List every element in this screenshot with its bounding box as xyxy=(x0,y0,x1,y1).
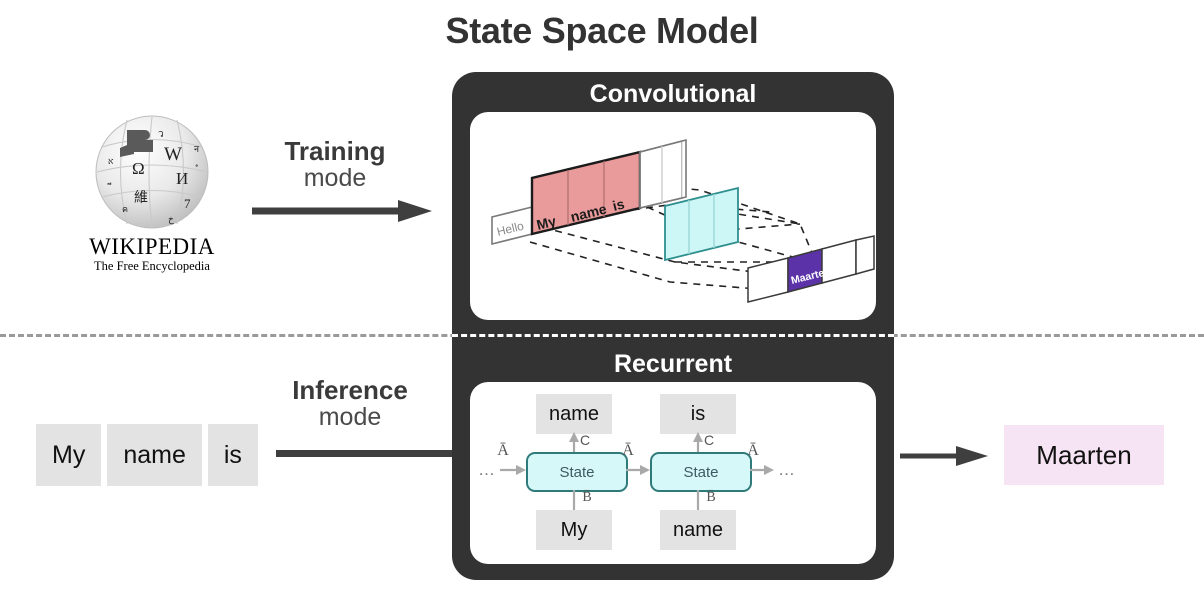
matrix-a-label: Ā xyxy=(617,442,639,460)
recurrent-card: name State My is State name Ā Ā Ā B̄ … xyxy=(470,382,876,564)
svg-text:И: И xyxy=(176,169,188,188)
wikipedia-wordmark: WIKIPEDIA xyxy=(52,234,252,260)
output-token-box: Maarten xyxy=(1004,425,1164,485)
svg-text:My: My xyxy=(535,213,558,233)
matrix-b-label: B̄ xyxy=(578,490,596,506)
inference-mode-strong: Inference xyxy=(250,376,450,404)
svg-text:W: W xyxy=(164,144,182,165)
svg-text:7: 7 xyxy=(184,196,191,211)
training-mode-strong: Training xyxy=(230,137,440,165)
svg-text:Ω: Ω xyxy=(132,159,145,178)
inference-input-tokens: My name is xyxy=(36,424,258,486)
wikipedia-tagline: The Free Encyclopedia xyxy=(52,259,252,274)
convolutional-diagram: Hello My name is Maarten xyxy=(470,112,876,325)
training-mode-label: Training mode xyxy=(230,137,440,193)
training-mode-light: mode xyxy=(230,165,440,193)
mode-divider-overlay xyxy=(452,334,894,337)
svg-text:א: א xyxy=(108,156,114,166)
training-arrow-icon xyxy=(252,200,432,222)
inference-mode-label: Inference mode xyxy=(250,376,450,432)
input-token: My xyxy=(36,424,101,486)
svg-text:ว: ว xyxy=(158,129,164,140)
convolutional-section-title: Convolutional xyxy=(452,80,894,109)
svg-text:خ: خ xyxy=(168,214,174,225)
input-token: is xyxy=(208,424,258,486)
recurrent-section-title: Recurrent xyxy=(452,350,894,379)
input-token: name xyxy=(107,424,202,486)
matrix-c-label: C xyxy=(704,432,714,448)
matrix-a-label: Ā xyxy=(742,442,764,460)
svg-text:維: 維 xyxy=(134,190,148,206)
left-ellipsis: … xyxy=(478,460,496,480)
matrix-a-label: Ā xyxy=(492,442,514,460)
wikipedia-globe-icon: W Ω И 維 7 ว א ํ ี न ค خ xyxy=(72,112,232,232)
output-arrow-icon xyxy=(900,445,988,467)
inference-connector-line xyxy=(276,450,452,457)
matrix-c-label: C xyxy=(580,432,590,448)
svg-text:ค: ค xyxy=(122,204,128,214)
matrix-b-label: B̄ xyxy=(702,490,720,506)
page-title: State Space Model xyxy=(0,10,1204,52)
right-ellipsis: … xyxy=(778,460,796,480)
inference-mode-light: mode xyxy=(250,404,450,432)
